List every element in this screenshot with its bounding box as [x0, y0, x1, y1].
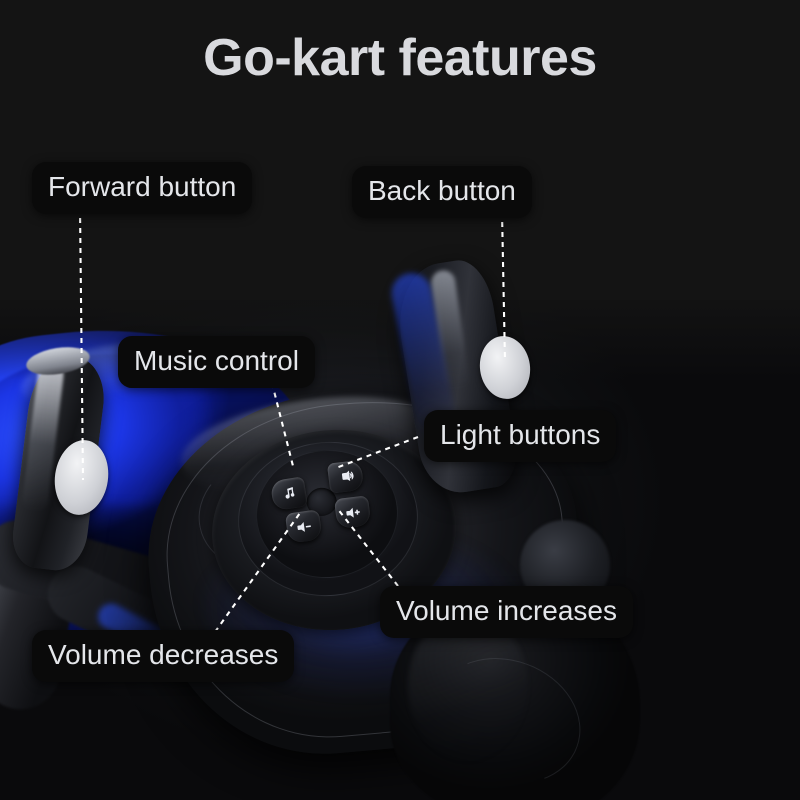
callout-light-buttons: Light buttons: [424, 410, 616, 462]
speaker-plus-icon: [344, 504, 361, 521]
volume-down-button[interactable]: [285, 509, 323, 543]
infographic-canvas: Go-kart features Forward button Back but…: [0, 0, 800, 800]
page-title: Go-kart features: [0, 28, 800, 88]
callout-back-button: Back button: [352, 166, 532, 218]
speaker-minus-icon: [295, 518, 312, 535]
volume-up-button[interactable]: [334, 495, 371, 529]
callout-forward-button: Forward button: [32, 162, 252, 214]
callout-volume-increases: Volume increases: [380, 586, 633, 638]
callout-volume-decreases: Volume decreases: [32, 630, 294, 682]
callout-music-control: Music control: [118, 336, 315, 388]
light-bulb-icon: [337, 468, 354, 485]
control-pad: [268, 444, 372, 544]
music-note-icon: [280, 485, 297, 502]
music-button[interactable]: [270, 476, 308, 511]
light-button[interactable]: [327, 460, 364, 494]
